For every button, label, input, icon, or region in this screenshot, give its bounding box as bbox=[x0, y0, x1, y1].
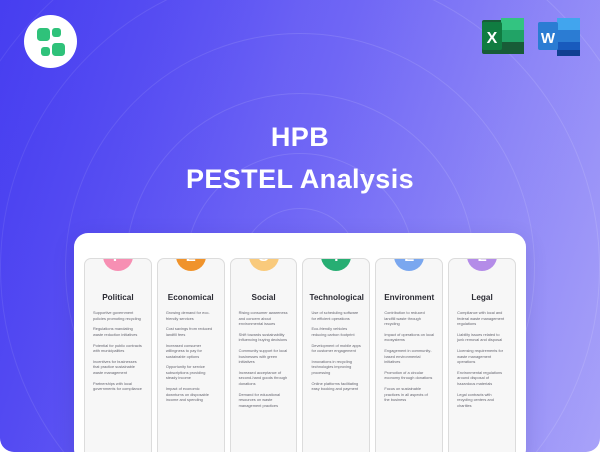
list-item: Supportive government policies promoting… bbox=[93, 310, 143, 321]
column-title: Legal bbox=[455, 293, 509, 302]
column-title: Economical bbox=[164, 293, 218, 302]
column-title: Environment bbox=[382, 293, 436, 302]
pestel-column-social[interactable]: SSocialRising consumer awareness and con… bbox=[230, 258, 298, 452]
pestel-columns: PPoliticalSupportive government policies… bbox=[84, 258, 516, 452]
list-item: Compliance with local and federal waste … bbox=[457, 310, 507, 327]
list-item: Promotion of a circular economy through … bbox=[384, 370, 434, 381]
list-item: Impact of operations on local ecosystems bbox=[384, 332, 434, 343]
logo-tile bbox=[52, 28, 61, 37]
office-app-icons: X W bbox=[480, 14, 582, 60]
grid-logo-icon bbox=[24, 15, 77, 68]
excel-icon[interactable]: X bbox=[480, 14, 526, 60]
list-item: Legal contracts with recycling centers a… bbox=[457, 392, 507, 409]
svg-text:W: W bbox=[541, 30, 556, 47]
pestel-column-economical[interactable]: EEconomicalGrowing demand for eco-friend… bbox=[157, 258, 225, 452]
list-item: Cost savings from reduced landfill fees bbox=[166, 326, 216, 337]
list-item: Environmental regulations around disposa… bbox=[457, 370, 507, 387]
column-badge-icon: P bbox=[103, 258, 133, 271]
list-item: Growing demand for eco-friendly services bbox=[166, 310, 216, 321]
pestel-column-environment[interactable]: EEnvironmentContribution to reduced land… bbox=[375, 258, 443, 452]
list-item: Liability issues related to junk removal… bbox=[457, 332, 507, 343]
page-title: HPB PESTEL Analysis bbox=[0, 122, 600, 195]
list-item: Partnerships with local governments for … bbox=[93, 381, 143, 392]
pestel-column-technological[interactable]: TTechnologicalUse of scheduling software… bbox=[302, 258, 370, 452]
list-item: Shift towards sustainability influencing… bbox=[239, 332, 289, 343]
column-badge-icon: S bbox=[249, 258, 279, 271]
list-item: Community support for local businesses w… bbox=[239, 348, 289, 365]
logo-tile bbox=[37, 28, 50, 41]
column-title: Technological bbox=[309, 293, 363, 302]
column-badge-icon: E bbox=[394, 258, 424, 271]
list-item: Increased consumer willingness to pay fo… bbox=[166, 343, 216, 360]
column-points: Supportive government policies promoting… bbox=[91, 310, 145, 392]
list-item: Increased acceptance of second-hand good… bbox=[239, 370, 289, 387]
column-points: Growing demand for eco-friendly services… bbox=[164, 310, 218, 403]
pestel-column-political[interactable]: PPoliticalSupportive government policies… bbox=[84, 258, 152, 452]
column-badge-icon: L bbox=[467, 258, 497, 271]
list-item: Opportunity for service subscriptions pr… bbox=[166, 364, 216, 381]
svg-text:X: X bbox=[487, 30, 498, 47]
list-item: Licensing requirements for waste managem… bbox=[457, 348, 507, 365]
list-item: Development of mobile apps for customer … bbox=[311, 343, 361, 354]
list-item: Incentives for businesses that practice … bbox=[93, 359, 143, 376]
column-badge-icon: E bbox=[176, 258, 206, 271]
pestel-panel: PPoliticalSupportive government policies… bbox=[74, 233, 526, 452]
list-item: Innovations in recycling technologies im… bbox=[311, 359, 361, 376]
title-line-1: HPB bbox=[0, 122, 600, 153]
column-points: Rising consumer awareness and concern ab… bbox=[237, 310, 291, 408]
list-item: Rising consumer awareness and concern ab… bbox=[239, 310, 289, 327]
list-item: Contribution to reduced landfill waste t… bbox=[384, 310, 434, 327]
title-line-2: PESTEL Analysis bbox=[0, 164, 600, 195]
list-item: Eco-friendly vehicles reducing carbon fo… bbox=[311, 326, 361, 337]
column-title: Social bbox=[237, 293, 291, 302]
column-points: Contribution to reduced landfill waste t… bbox=[382, 310, 436, 403]
list-item: Demand for educational resources on wast… bbox=[239, 392, 289, 409]
logo-tile bbox=[41, 47, 50, 56]
logo-tile bbox=[52, 43, 65, 56]
column-points: Compliance with local and federal waste … bbox=[455, 310, 509, 408]
list-item: Impact of economic downturns on disposab… bbox=[166, 386, 216, 403]
column-points: Use of scheduling software for efficient… bbox=[309, 310, 363, 392]
list-item: Focus on sustainable practices in all as… bbox=[384, 386, 434, 403]
pestel-analysis-slide: X W HPB PESTEL Analysis PPoliticalSuppor… bbox=[0, 0, 600, 452]
list-item: Use of scheduling software for efficient… bbox=[311, 310, 361, 321]
list-item: Potential for public contracts with muni… bbox=[93, 343, 143, 354]
list-item: Engagement in community-based environmen… bbox=[384, 348, 434, 365]
column-badge-icon: T bbox=[321, 258, 351, 271]
column-title: Political bbox=[91, 293, 145, 302]
list-item: Regulations mandating waste reduction in… bbox=[93, 326, 143, 337]
word-icon[interactable]: W bbox=[536, 14, 582, 60]
list-item: Online platforms facilitating easy booki… bbox=[311, 381, 361, 392]
pestel-column-legal[interactable]: LLegalCompliance with local and federal … bbox=[448, 258, 516, 452]
logo-grid-shape bbox=[37, 28, 65, 56]
